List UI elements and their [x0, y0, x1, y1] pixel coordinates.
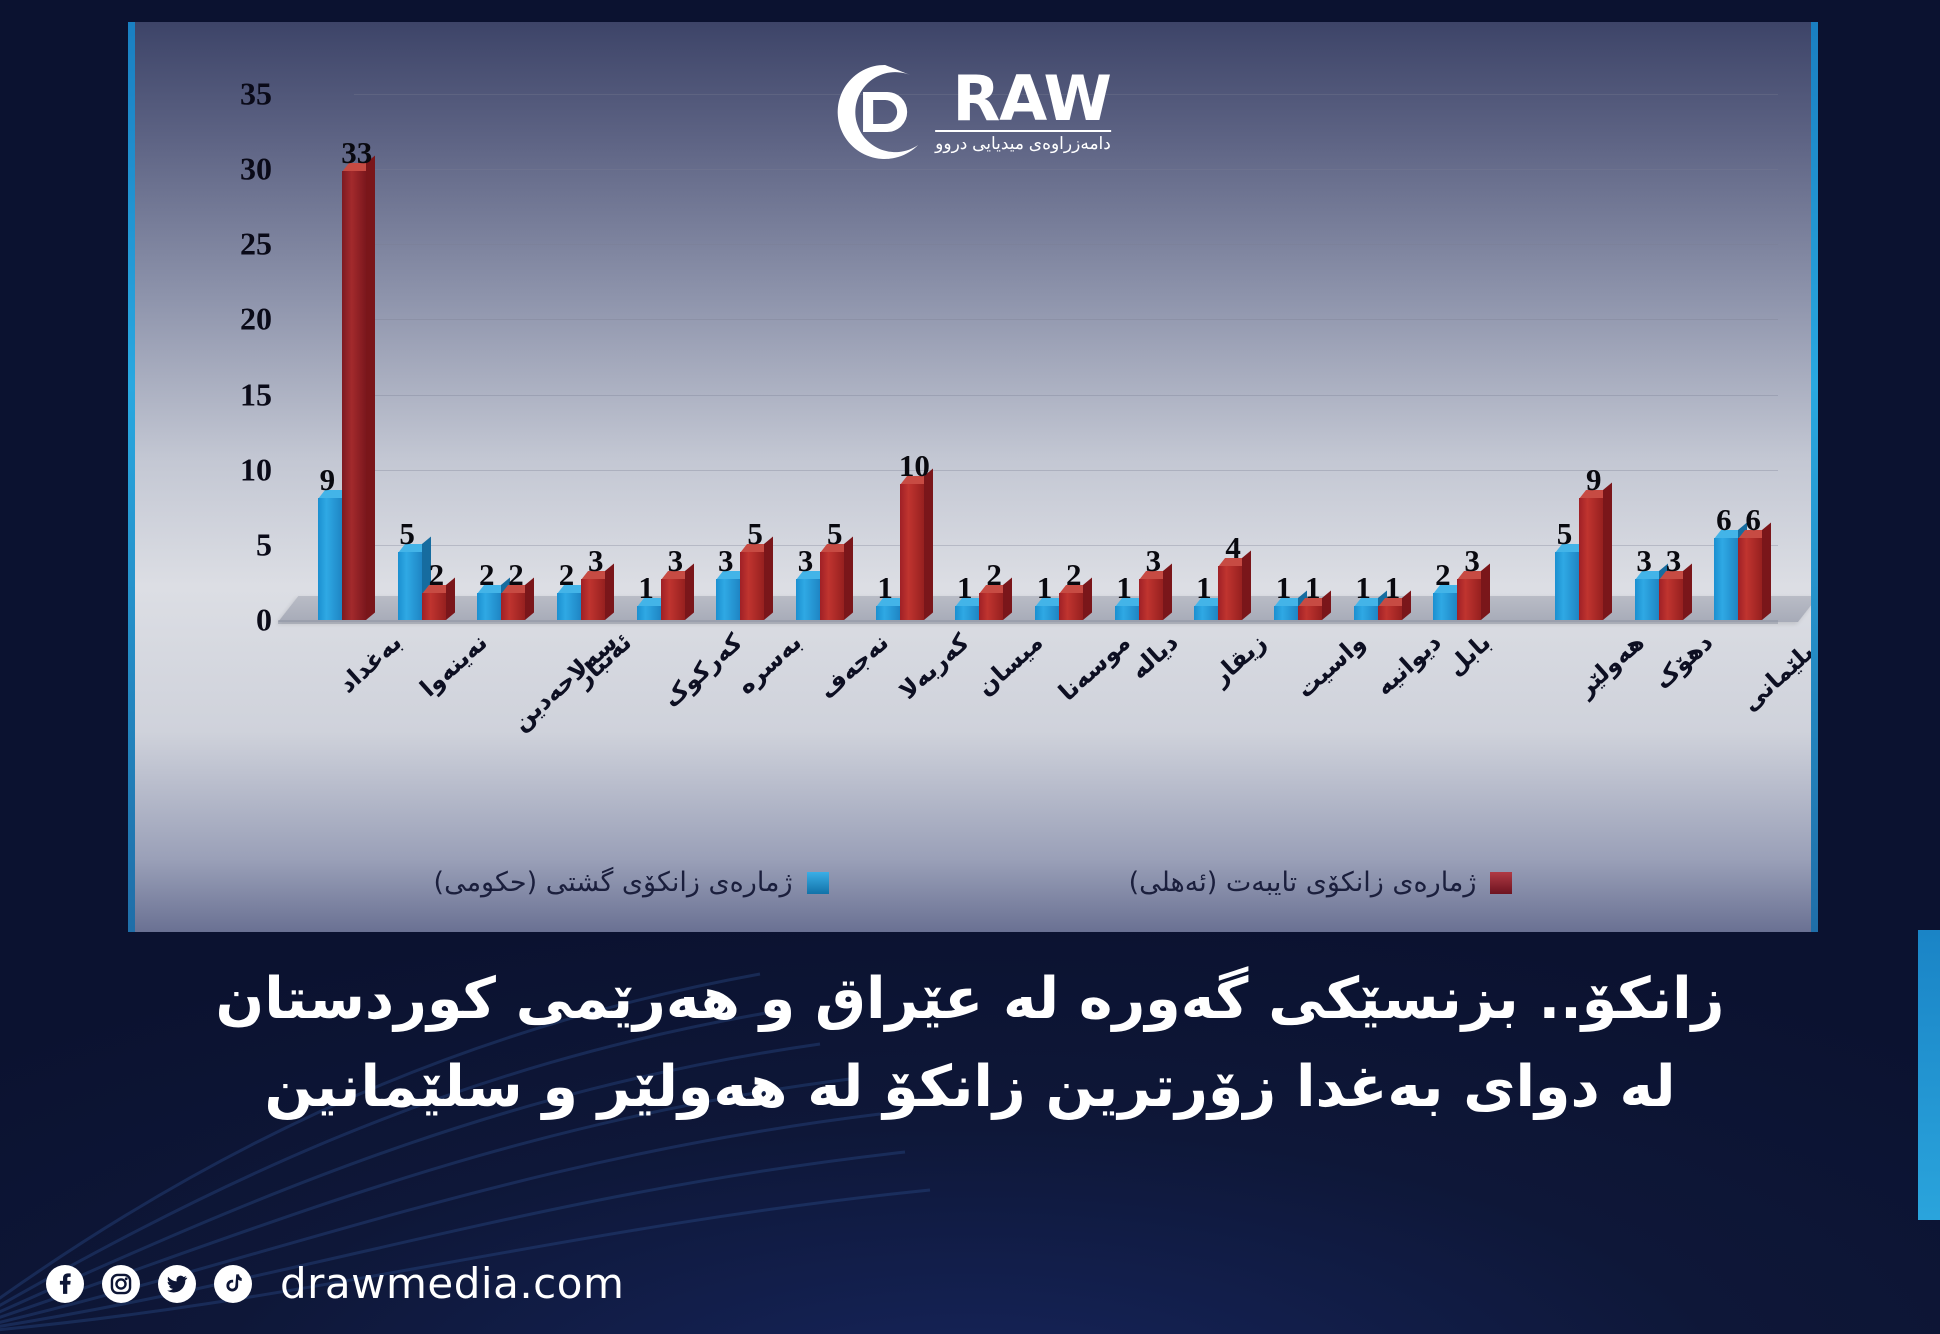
- bar-public[interactable]: 5: [398, 552, 422, 620]
- bar-private[interactable]: 5: [820, 552, 844, 620]
- bar-front-face: [637, 606, 661, 620]
- footer: drawmedia.com: [46, 1259, 624, 1308]
- bar-side-face: [605, 564, 614, 620]
- bar-front-face: [477, 593, 501, 620]
- bar-value-label: 3: [798, 545, 814, 576]
- bar-group: 52: [382, 144, 462, 620]
- bar-front-face: [796, 579, 820, 620]
- bar-front-face: [1457, 579, 1481, 620]
- legend-item-public[interactable]: ژمارەی زانکۆی گشتی (حکومی): [434, 867, 829, 898]
- tiktok-icon[interactable]: [214, 1265, 252, 1303]
- bar-group: 59: [1539, 144, 1619, 620]
- bar-value-label: 9: [1586, 464, 1602, 495]
- x-axis-label-cell: سەلاحەدین: [461, 622, 541, 772]
- bar-front-face: [398, 552, 422, 620]
- bar-public[interactable]: 2: [477, 593, 501, 620]
- x-axis-label-cell: دیالە: [1099, 622, 1179, 772]
- bar-group: 14: [1178, 144, 1258, 620]
- bar-public[interactable]: 3: [716, 579, 740, 620]
- bar-front-face: [1035, 606, 1059, 620]
- bar-front-face: [1218, 566, 1242, 620]
- bar-value-label: 3: [1636, 545, 1652, 576]
- bar-value-label: 2: [986, 559, 1002, 590]
- bar-value-label: 3: [1666, 545, 1682, 576]
- bar-group: 33: [1619, 144, 1699, 620]
- headline: زانکۆ.. بزنسێکی گەورە لە عێراق و هەرێمی …: [0, 955, 1940, 1132]
- bar-value-label: 9: [320, 464, 336, 495]
- bar-front-face: [1659, 579, 1683, 620]
- bar-value-label: 4: [1225, 532, 1241, 563]
- bar-side-face: [1003, 577, 1012, 620]
- bar-private[interactable]: 6: [1738, 538, 1762, 620]
- bar-value-label: 1: [957, 572, 973, 603]
- bar-public[interactable]: 1: [955, 606, 979, 620]
- bar-front-face: [1139, 579, 1163, 620]
- bar-value-label: 6: [1745, 504, 1761, 535]
- bar-private[interactable]: 3: [581, 579, 605, 620]
- bar-public[interactable]: 1: [637, 606, 661, 620]
- bar-public[interactable]: 1: [1115, 606, 1139, 620]
- bar-side-face: [1242, 550, 1251, 620]
- headline-line-1: زانکۆ.. بزنسێکی گەورە لە عێراق و هەرێمی …: [0, 955, 1940, 1043]
- bar-public[interactable]: 1: [1274, 606, 1298, 620]
- bar-side-face: [1083, 577, 1092, 620]
- bar-value-label: 1: [1196, 572, 1212, 603]
- x-axis-label-cell: واسیت: [1258, 622, 1338, 772]
- legend-swatch-blue-icon: [807, 872, 829, 894]
- bar-side-face: [1603, 482, 1612, 620]
- bar-private[interactable]: 9: [1579, 498, 1603, 620]
- legend-item-private[interactable]: ژمارەی زانکۆی تایبەت (ئەهلی): [1129, 867, 1513, 898]
- bar-private[interactable]: 2: [501, 593, 525, 620]
- bar-side-face: [1322, 591, 1331, 620]
- x-axis-label-cell: میسان: [939, 622, 1019, 772]
- bar-value-label: 33: [341, 137, 372, 168]
- y-axis-tick: 0: [256, 602, 272, 639]
- x-axis-label-cell: نەجەف: [780, 622, 860, 772]
- bar-private[interactable]: 4: [1218, 566, 1242, 620]
- y-axis-tick: 5: [256, 526, 272, 563]
- bar-value-label: 5: [399, 518, 415, 549]
- bar-value-label: 3: [1464, 545, 1480, 576]
- bar-public[interactable]: 9: [318, 498, 342, 620]
- bar-front-face: [876, 606, 900, 620]
- facebook-icon[interactable]: [46, 1265, 84, 1303]
- bar-series-container: 93352222313353511012121314111123593366: [302, 144, 1778, 620]
- bar-front-face: [900, 484, 924, 620]
- bar-group: 23: [541, 144, 621, 620]
- bar-group: 12: [1019, 144, 1099, 620]
- bar-value-label: 2: [429, 559, 445, 590]
- bar-value-label: 1: [877, 572, 893, 603]
- bar-private[interactable]: 3: [1659, 579, 1683, 620]
- bar-value-label: 3: [588, 545, 604, 576]
- bar-side-face: [366, 156, 375, 620]
- bar-front-face: [1298, 606, 1322, 620]
- x-axis-labels: بەغدادنەینەواسەلاحەدینئەنبارکەرکوکبەسرەن…: [302, 622, 1778, 772]
- bar-front-face: [581, 579, 605, 620]
- bar-front-face: [1354, 606, 1378, 620]
- logo-wordmark: RAW: [953, 70, 1111, 129]
- website-url[interactable]: drawmedia.com: [280, 1259, 624, 1308]
- bar-public[interactable]: 1: [1194, 606, 1218, 620]
- bar-private[interactable]: 2: [979, 593, 1003, 620]
- bar-value-label: 5: [747, 518, 763, 549]
- bar-front-face: [557, 593, 581, 620]
- bar-private[interactable]: 2: [1059, 593, 1083, 620]
- bar-front-face: [1433, 593, 1457, 620]
- y-axis: 05101520253035: [186, 62, 272, 622]
- bar-group: 13: [1099, 144, 1179, 620]
- bar-front-face: [1059, 593, 1083, 620]
- bar-group: 933: [302, 144, 382, 620]
- bar-public[interactable]: 2: [1433, 593, 1457, 620]
- bar-group: 11: [1258, 144, 1338, 620]
- bar-side-face: [1762, 523, 1771, 620]
- bar-group: 23: [1417, 144, 1497, 620]
- y-axis-tick: 15: [240, 376, 272, 413]
- bar-side-face: [764, 536, 773, 620]
- chart-card: RAW دامەزراوەی میدیایی دروو 051015202530…: [128, 22, 1818, 932]
- bar-group: 35: [700, 144, 780, 620]
- x-axis-label-cell: موسەنا: [1019, 622, 1099, 772]
- x-axis-label-cell: ئەنبار: [541, 622, 621, 772]
- bar-value-label: 3: [718, 545, 734, 576]
- x-axis-label: سلێمانی: [1736, 628, 1818, 717]
- bar-front-face: [342, 171, 366, 620]
- bar-group: 11: [1338, 144, 1418, 620]
- bar-front-face: [501, 593, 525, 620]
- bar-group: 13: [621, 144, 701, 620]
- bar-side-face: [924, 468, 933, 620]
- bar-front-face: [422, 593, 446, 620]
- bar-group: 110: [860, 144, 940, 620]
- x-axis-label-cell: هەولێر: [1539, 622, 1619, 772]
- bar-front-face: [1194, 606, 1218, 620]
- brand-logo: RAW دامەزراوەی میدیایی دروو: [835, 62, 1111, 162]
- bar-group: 22: [461, 144, 541, 620]
- bar-value-label: 2: [559, 559, 575, 590]
- bar-private[interactable]: 2: [422, 593, 446, 620]
- x-axis-label-cell: دهۆک: [1619, 622, 1699, 772]
- bar-group: 35: [780, 144, 860, 620]
- bar-side-face: [685, 564, 694, 620]
- bar-side-face: [844, 536, 853, 620]
- bar-private[interactable]: 33: [342, 171, 366, 620]
- bar-front-face: [979, 593, 1003, 620]
- x-axis-label-cell: دیوانیە: [1338, 622, 1418, 772]
- chart-legend: ژمارەی زانکۆی تایبەت (ئەهلی) ژمارەی زانک…: [128, 867, 1818, 898]
- bar-side-face: [1402, 591, 1411, 620]
- bar-value-label: 1: [1305, 572, 1321, 603]
- bar-public[interactable]: 3: [796, 579, 820, 620]
- bar-public[interactable]: 1: [876, 606, 900, 620]
- bar-side-face: [1481, 564, 1490, 620]
- bar-front-face: [661, 579, 685, 620]
- x-axis-label-cell: زیقار: [1178, 622, 1258, 772]
- bar-front-face: [1579, 498, 1603, 620]
- y-axis-tick: 25: [240, 226, 272, 263]
- bar-front-face: [1378, 606, 1402, 620]
- bar-value-label: 1: [638, 572, 654, 603]
- bar-value-label: 5: [827, 518, 843, 549]
- y-axis-tick: 30: [240, 151, 272, 188]
- bar-value-label: 1: [1037, 572, 1053, 603]
- bar-group: 12: [939, 144, 1019, 620]
- bar-private[interactable]: 1: [1378, 606, 1402, 620]
- bar-value-label: 2: [1066, 559, 1082, 590]
- headline-line-2: لە دوای بەغدا زۆرترین زانکۆ لە هەولێر و …: [0, 1043, 1940, 1131]
- bar-public[interactable]: 1: [1035, 606, 1059, 620]
- bar-value-label: 5: [1557, 518, 1573, 549]
- x-axis-label-cell: بەغداد: [302, 622, 382, 772]
- bar-value-label: 2: [479, 559, 495, 590]
- bar-private[interactable]: 3: [1457, 579, 1481, 620]
- y-axis-tick: 10: [240, 451, 272, 488]
- bar-private[interactable]: 5: [740, 552, 764, 620]
- bar-front-face: [1274, 606, 1298, 620]
- bar-value-label: 3: [1146, 545, 1162, 576]
- bar-value-label: 6: [1716, 504, 1732, 535]
- bar-public[interactable]: 3: [1635, 579, 1659, 620]
- bar-side-face: [1683, 564, 1692, 620]
- bar-front-face: [1555, 552, 1579, 620]
- bar-value-label: 1: [1355, 572, 1371, 603]
- bar-front-face: [740, 552, 764, 620]
- bar-front-face: [1714, 538, 1738, 620]
- y-axis-tick: 20: [240, 301, 272, 338]
- x-axis-label: دیالە: [1124, 628, 1183, 685]
- bar-front-face: [1738, 538, 1762, 620]
- bar-group: 66: [1698, 144, 1778, 620]
- bar-value-label: 3: [668, 545, 684, 576]
- legend-label-public: ژمارەی زانکۆی گشتی (حکومی): [434, 867, 793, 898]
- bar-value-label: 2: [1435, 559, 1451, 590]
- bar-front-face: [955, 606, 979, 620]
- bar-front-face: [716, 579, 740, 620]
- bar-value-label: 1: [1385, 572, 1401, 603]
- bar-public[interactable]: 1: [1354, 606, 1378, 620]
- bar-value-label: 2: [508, 559, 524, 590]
- bar-front-face: [318, 498, 342, 620]
- legend-label-private: ژمارەی زانکۆی تایبەت (ئەهلی): [1129, 867, 1477, 898]
- y-axis-tick: 35: [240, 76, 272, 113]
- bar-value-label: 10: [899, 450, 930, 481]
- twitter-icon[interactable]: [158, 1265, 196, 1303]
- instagram-icon[interactable]: [102, 1265, 140, 1303]
- bar-front-face: [1635, 579, 1659, 620]
- x-axis-label-cell: سلێمانی: [1698, 622, 1778, 772]
- x-axis-label-cell: بابل: [1417, 622, 1497, 772]
- x-axis-label-cell: نەینەوا: [382, 622, 462, 772]
- x-axis-label-cell: کەرکوک: [621, 622, 701, 772]
- bar-value-label: 1: [1116, 572, 1132, 603]
- right-accent-tab: [1918, 930, 1940, 1220]
- bar-front-face: [820, 552, 844, 620]
- bar-side-face: [446, 577, 455, 620]
- logo-subtitle: دامەزراوەی میدیایی دروو: [935, 130, 1111, 154]
- bar-side-face: [525, 577, 534, 620]
- x-axis-label-cell: کەربەلا: [860, 622, 940, 772]
- bar-public[interactable]: 6: [1714, 538, 1738, 620]
- poster-background: RAW دامەزراوەی میدیایی دروو 051015202530…: [0, 0, 1940, 1334]
- x-axis-label: بابل: [1442, 628, 1497, 681]
- bar-public[interactable]: 5: [1555, 552, 1579, 620]
- bar-private[interactable]: 3: [661, 579, 685, 620]
- bar-public[interactable]: 2: [557, 593, 581, 620]
- bar-front-face: [1115, 606, 1139, 620]
- bar-value-label: 1: [1276, 572, 1292, 603]
- bar-private[interactable]: 3: [1139, 579, 1163, 620]
- d-circle-logo-icon: [835, 62, 935, 162]
- x-axis-label-cell: بەسرە: [700, 622, 780, 772]
- bar-side-face: [1163, 564, 1172, 620]
- bar-private[interactable]: 10: [900, 484, 924, 620]
- bar-private[interactable]: 1: [1298, 606, 1322, 620]
- legend-swatch-red-icon: [1490, 872, 1512, 894]
